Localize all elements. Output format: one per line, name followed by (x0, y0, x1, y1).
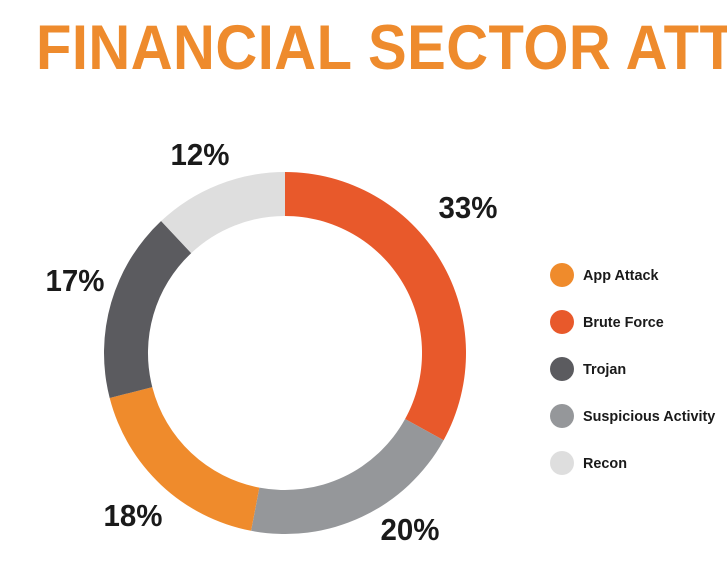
legend-item-recon[interactable]: Recon (550, 451, 727, 475)
legend-item-brute-force[interactable]: Brute Force (550, 310, 727, 334)
chart-legend: App Attack Brute Force Trojan Suspicious… (550, 263, 727, 498)
legend-item-app-attack[interactable]: App Attack (550, 263, 727, 287)
callout-trojan: 17% (46, 263, 105, 299)
legend-label: Brute Force (583, 314, 664, 331)
donut-slice-trojan[interactable] (104, 221, 191, 398)
circle-swatch-icon (550, 451, 574, 475)
donut-slice-group (104, 172, 466, 534)
circle-swatch-icon (550, 263, 574, 287)
legend-label: Suspicious Activity (583, 408, 715, 425)
legend-item-trojan[interactable]: Trojan (550, 357, 727, 381)
circle-swatch-icon (550, 404, 574, 428)
legend-label: Trojan (583, 361, 626, 378)
legend-item-suspicious-activity[interactable]: Suspicious Activity (550, 404, 727, 428)
legend-label: Recon (583, 455, 627, 472)
callout-app-attack: 18% (104, 498, 163, 534)
circle-swatch-icon (550, 357, 574, 381)
donut-chart (104, 172, 466, 534)
legend-label: App Attack (583, 267, 658, 284)
callout-suspicious-activity: 20% (381, 512, 440, 548)
callout-recon: 12% (171, 137, 230, 173)
donut-chart-svg (104, 172, 466, 534)
circle-swatch-icon (550, 310, 574, 334)
callout-brute-force: 33% (439, 190, 498, 226)
page-title: FINANCIAL SECTOR ATTACKS (36, 14, 727, 82)
